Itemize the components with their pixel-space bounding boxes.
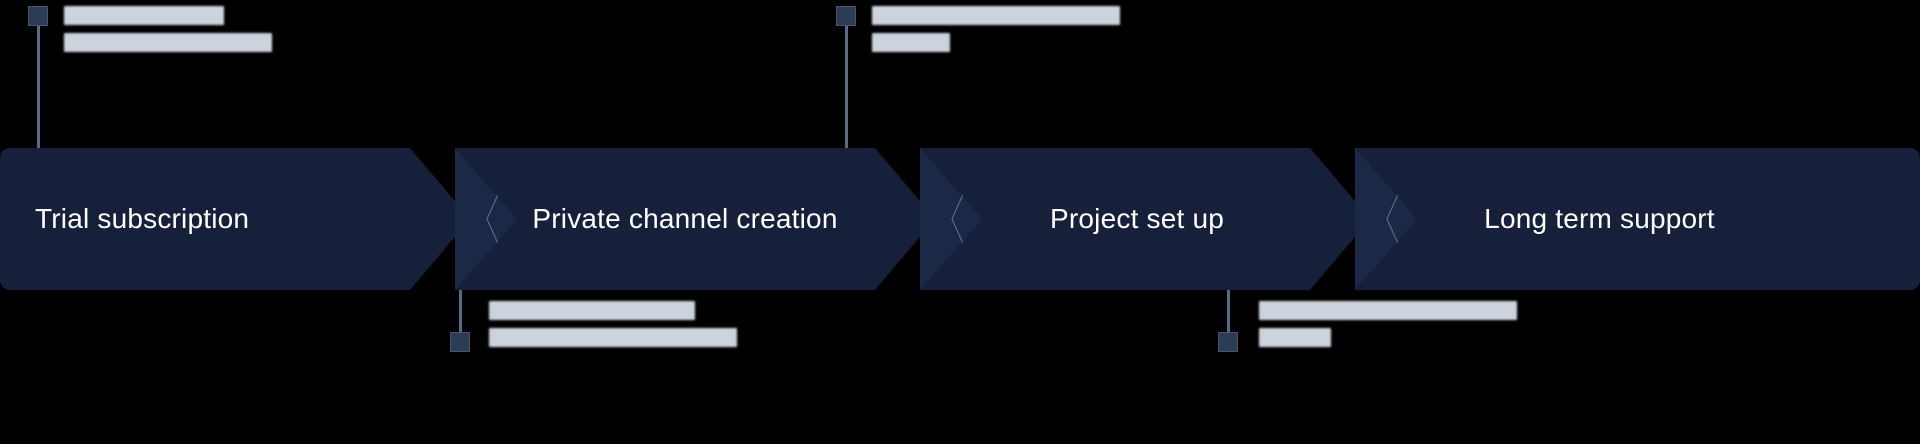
connector-line-step-3: [845, 18, 848, 150]
annotation-step-3: [872, 6, 1120, 52]
redacted-text-line: [1259, 301, 1517, 320]
redacted-text-line: [489, 301, 695, 320]
process-step-label: Private channel creation: [445, 203, 925, 235]
process-step-private-channel-creation[interactable]: Private channel creation: [455, 148, 935, 290]
connector-marker-step-3: [836, 6, 856, 26]
redacted-text-line: [872, 33, 950, 52]
annotation-step-2: [489, 301, 737, 347]
connector-marker-step-4: [1218, 332, 1238, 352]
annotation-step-4: [1259, 301, 1517, 347]
process-step-long-term-support[interactable]: Long term support: [1355, 148, 1920, 290]
connector-marker-step-2: [450, 332, 470, 352]
connector-marker-step-1: [28, 6, 48, 26]
connector-line-step-1: [37, 18, 40, 150]
diagram-canvas: Trial subscription Private channel creat…: [0, 0, 1920, 444]
redacted-text-line: [64, 6, 224, 25]
process-chevron-band: Trial subscription Private channel creat…: [0, 148, 1920, 290]
redacted-text-line: [64, 33, 272, 52]
process-step-trial-subscription[interactable]: Trial subscription: [0, 148, 470, 290]
annotation-step-1: [64, 6, 272, 52]
redacted-text-line: [489, 328, 737, 347]
redacted-text-line: [872, 6, 1120, 25]
process-step-project-set-up[interactable]: Project set up: [920, 148, 1370, 290]
redacted-text-line: [1259, 328, 1331, 347]
process-step-label: Trial subscription: [35, 203, 249, 235]
